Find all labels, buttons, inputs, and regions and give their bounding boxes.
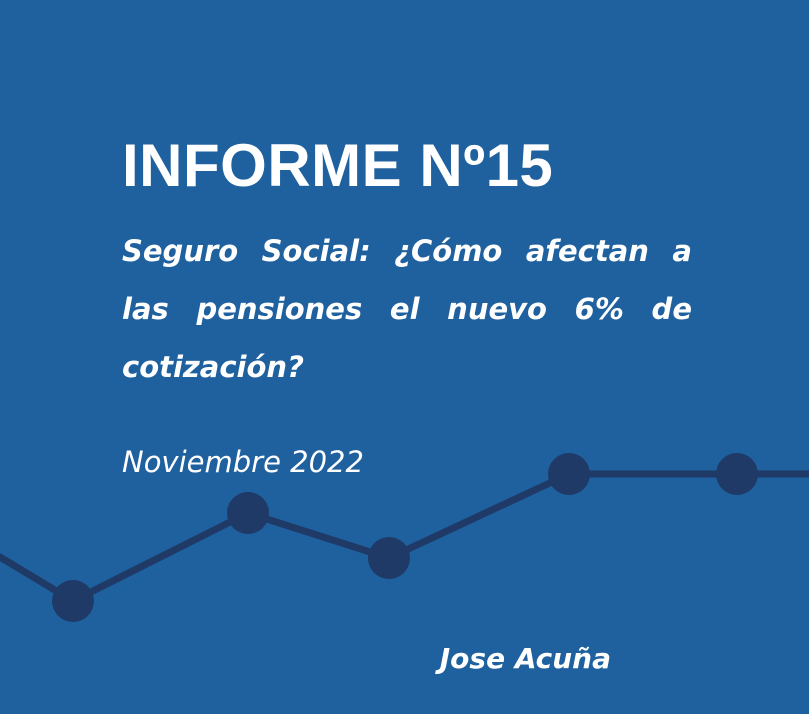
report-author: Jose Acuña: [0, 641, 611, 677]
report-date: Noviembre 2022: [122, 444, 364, 480]
report-subtitle: Seguro Social: ¿Cómo afectan a las pensi…: [122, 222, 692, 454]
report-cover-page: INFORME Nº15 Seguro Social: ¿Cómo afecta…: [0, 0, 809, 714]
report-title: INFORME Nº15: [122, 136, 722, 196]
cover-text-block: INFORME Nº15 Seguro Social: ¿Cómo afecta…: [0, 0, 809, 714]
